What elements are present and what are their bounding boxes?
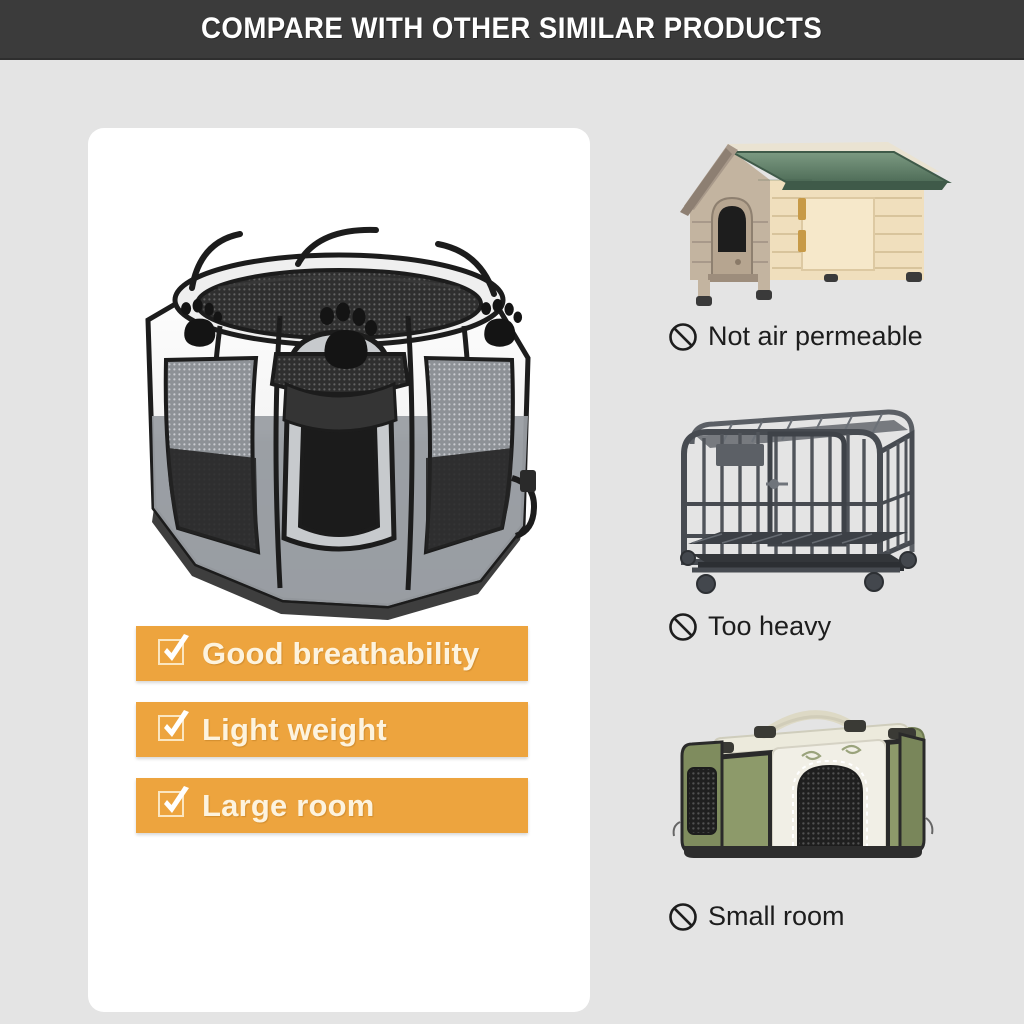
- comparison-label: Not air permeable: [708, 321, 923, 352]
- comparison-caption: Too heavy: [668, 611, 1010, 642]
- checkbox-checked-icon: [158, 715, 188, 745]
- comparison-column: Not air permeable: [640, 102, 1010, 1002]
- feature-badge: Light weight: [136, 702, 528, 757]
- prohibition-icon: [668, 322, 698, 352]
- comparison-item: Not air permeable: [640, 102, 1010, 392]
- header-bar: COMPARE WITH OTHER SIMILAR PRODUCTS: [0, 0, 1024, 60]
- feature-label: Large room: [202, 788, 375, 824]
- comparison-caption: Not air permeable: [668, 321, 1010, 352]
- page-title: COMPARE WITH OTHER SIMILAR PRODUCTS: [201, 12, 822, 46]
- checkbox-checked-icon: [158, 791, 188, 821]
- hero-product-card: Good breathability Light weight: [88, 128, 590, 1012]
- wooden-dog-house-icon: [662, 102, 962, 317]
- comparison-item: Small room: [640, 682, 1010, 972]
- soft-pet-carrier-bag-icon: [662, 682, 962, 897]
- feature-badge-list: Good breathability Light weight: [136, 626, 536, 854]
- feature-badge: Good breathability: [136, 626, 528, 681]
- feature-label: Good breathability: [202, 636, 479, 672]
- pet-playpen-icon: [108, 208, 570, 648]
- checkbox-checked-icon: [158, 639, 188, 669]
- comparison-label: Small room: [708, 901, 845, 932]
- feature-badge: Large room: [136, 778, 528, 833]
- metal-dog-crate-icon: [662, 392, 962, 607]
- feature-label: Light weight: [202, 712, 387, 748]
- prohibition-icon: [668, 902, 698, 932]
- prohibition-icon: [668, 612, 698, 642]
- comparison-label: Too heavy: [708, 611, 831, 642]
- comparison-caption: Small room: [668, 901, 1010, 932]
- content-stage: Good breathability Light weight: [0, 62, 1024, 1024]
- comparison-item: Too heavy: [640, 392, 1010, 682]
